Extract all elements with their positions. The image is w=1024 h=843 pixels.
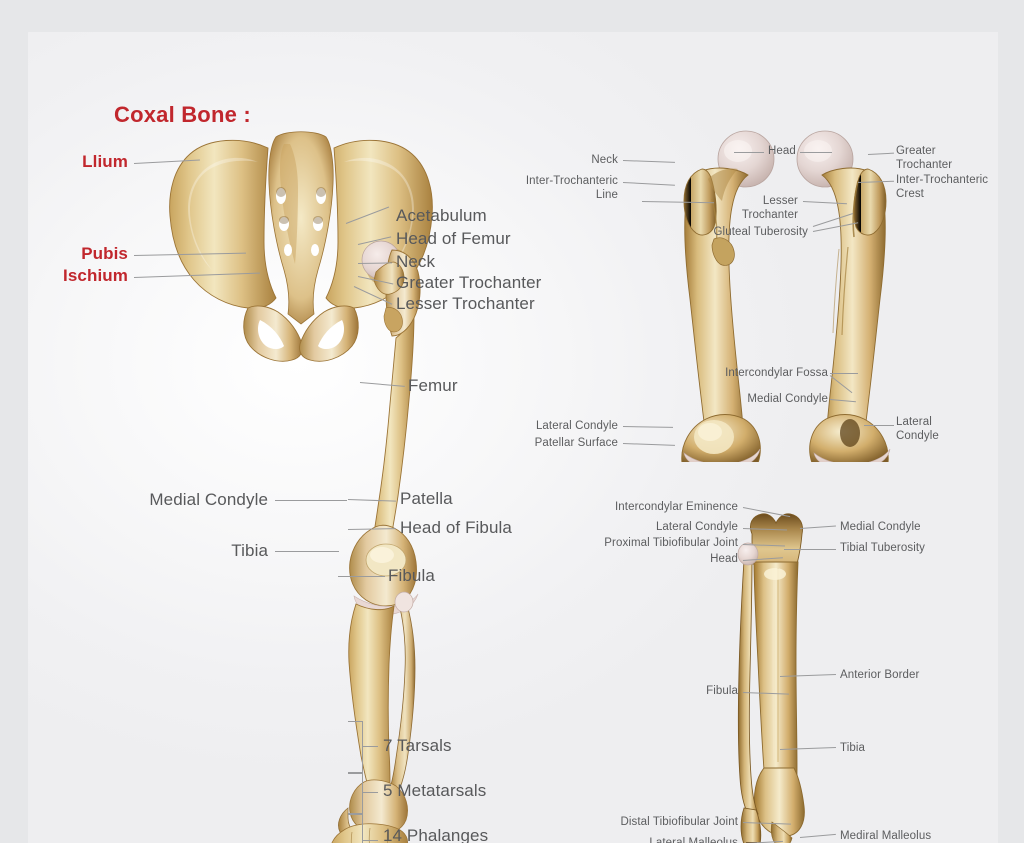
label-femur: Femur — [408, 376, 458, 396]
label-5-metatarsals: 5 Metatarsals — [383, 781, 486, 801]
label-intercondylar-eminence: Intercondylar Eminence — [588, 501, 738, 515]
label-femur-lesser-trochanter: Lesser Trochanter — [718, 195, 798, 222]
illustration-canvas: Coxal Bone : Llium Pubis Ischium Acetabu… — [28, 32, 998, 843]
bracket-tarsals — [348, 721, 363, 773]
label-femur-neck: Neck — [548, 154, 618, 168]
label-neck: Neck — [396, 252, 435, 272]
label-anterior-border: Anterior Border — [840, 669, 919, 683]
label-mediral-malleolus: Mediral Malleolus — [840, 830, 931, 843]
label-inter-trochanteric-crest: Inter-Trochanteric Crest — [896, 174, 988, 201]
label-tibial-tuberosity: Tibial Tuberosity — [840, 542, 925, 556]
label-pubis: Pubis — [48, 244, 128, 264]
label-patella: Patella — [400, 489, 453, 509]
label-femur-lateral-condyle-right-line1: Lateral — [896, 416, 939, 430]
label-intercondylar-fossa: Intercondylar Fossa — [718, 367, 828, 381]
label-gluteal-tuberosity: Gluteal Tuberosity — [668, 226, 808, 240]
bracket-stem-tarsals — [362, 746, 378, 747]
leader-femur-lateral-condyle-right — [864, 425, 894, 426]
label-ischium: Ischium — [38, 266, 128, 286]
leader-femur-head-left — [734, 152, 764, 153]
label-femur-medial-condyle: Medial Condyle — [718, 393, 828, 407]
label-greater-trochanter-right: Greater Trochanter — [896, 145, 952, 172]
label-head-of-femur: Head of Femur — [396, 229, 511, 249]
label-14-phalanges: 14 Phalanges — [383, 826, 488, 843]
label-tibia-shaft: Tibia — [840, 742, 865, 756]
bracket-stem-phalanges — [362, 840, 378, 841]
bracket-metatarsals — [348, 773, 363, 814]
label-femur-lesser-trochanter-line2: Trochanter — [718, 209, 798, 223]
label-femur-lateral-condyle-right: Lateral Condyle — [896, 416, 939, 443]
label-fibula-head: Head — [648, 553, 738, 567]
label-proximal-tibiofibular-joint: Proximal Tibiofibular Joint — [588, 537, 738, 551]
label-greater-trochanter-line2: Trochanter — [896, 159, 952, 173]
label-femur-lesser-trochanter-line1: Lesser — [718, 195, 798, 209]
leader-intercondylar-fossa — [830, 373, 858, 374]
label-tibia-lateral-condyle: Lateral Condyle — [608, 521, 738, 535]
leader-fibula — [338, 576, 385, 577]
femur-anterior-view — [682, 131, 774, 462]
label-lateral-malleolus: Lateral Malleolus — [608, 837, 738, 843]
label-greater-trochanter: Greater Trochanter — [396, 273, 541, 293]
label-lesser-trochanter: Lesser Trochanter — [396, 294, 535, 314]
label-inter-trochanteric-crest-line2: Crest — [896, 188, 988, 202]
label-inter-trochanteric-line: Inter-Trochanteric Line — [498, 175, 618, 202]
leader-tibia — [275, 551, 339, 552]
bracket-phalanges — [348, 814, 363, 843]
label-femur-lateral-condyle: Lateral Condyle — [508, 420, 618, 434]
label-tibia: Tibia — [158, 541, 268, 561]
bracket-stem-metatarsals — [362, 792, 378, 793]
label-tibia-medial-condyle: Medial Condyle — [840, 521, 921, 535]
label-medial-condyle: Medial Condyle — [108, 490, 268, 510]
label-head-of-fibula: Head of Fibula — [400, 518, 512, 538]
label-inter-trochanteric-line-line2: Line — [498, 189, 618, 203]
label-inter-trochanteric-crest-line1: Inter-Trochanteric — [896, 174, 988, 188]
label-femur-head: Head — [768, 145, 796, 159]
leader-medial-condyle — [275, 500, 347, 501]
label-7-tarsals: 7 Tarsals — [383, 736, 452, 756]
label-femur-lateral-condyle-right-line2: Condyle — [896, 430, 939, 444]
label-patellar-surface: Patellar Surface — [508, 437, 618, 451]
main-limb-illustration — [138, 92, 438, 843]
leader-tibial-tuberosity — [784, 549, 836, 550]
leader-femur-head-right — [800, 152, 832, 153]
label-llium: Llium — [58, 152, 128, 172]
label-fibula: Fibula — [388, 566, 435, 586]
label-greater-trochanter-line1: Greater — [896, 145, 952, 159]
label-acetabulum: Acetabulum — [396, 206, 487, 226]
label-tibia-fibula: Fibula — [638, 685, 738, 699]
femur-illustration — [640, 127, 930, 462]
label-inter-trochanteric-line-line1: Inter-Trochanteric — [498, 175, 618, 189]
label-distal-tibiofibular-joint: Distal Tibiofibular Joint — [588, 816, 738, 830]
coxal-bone-heading: Coxal Bone : — [114, 102, 251, 128]
